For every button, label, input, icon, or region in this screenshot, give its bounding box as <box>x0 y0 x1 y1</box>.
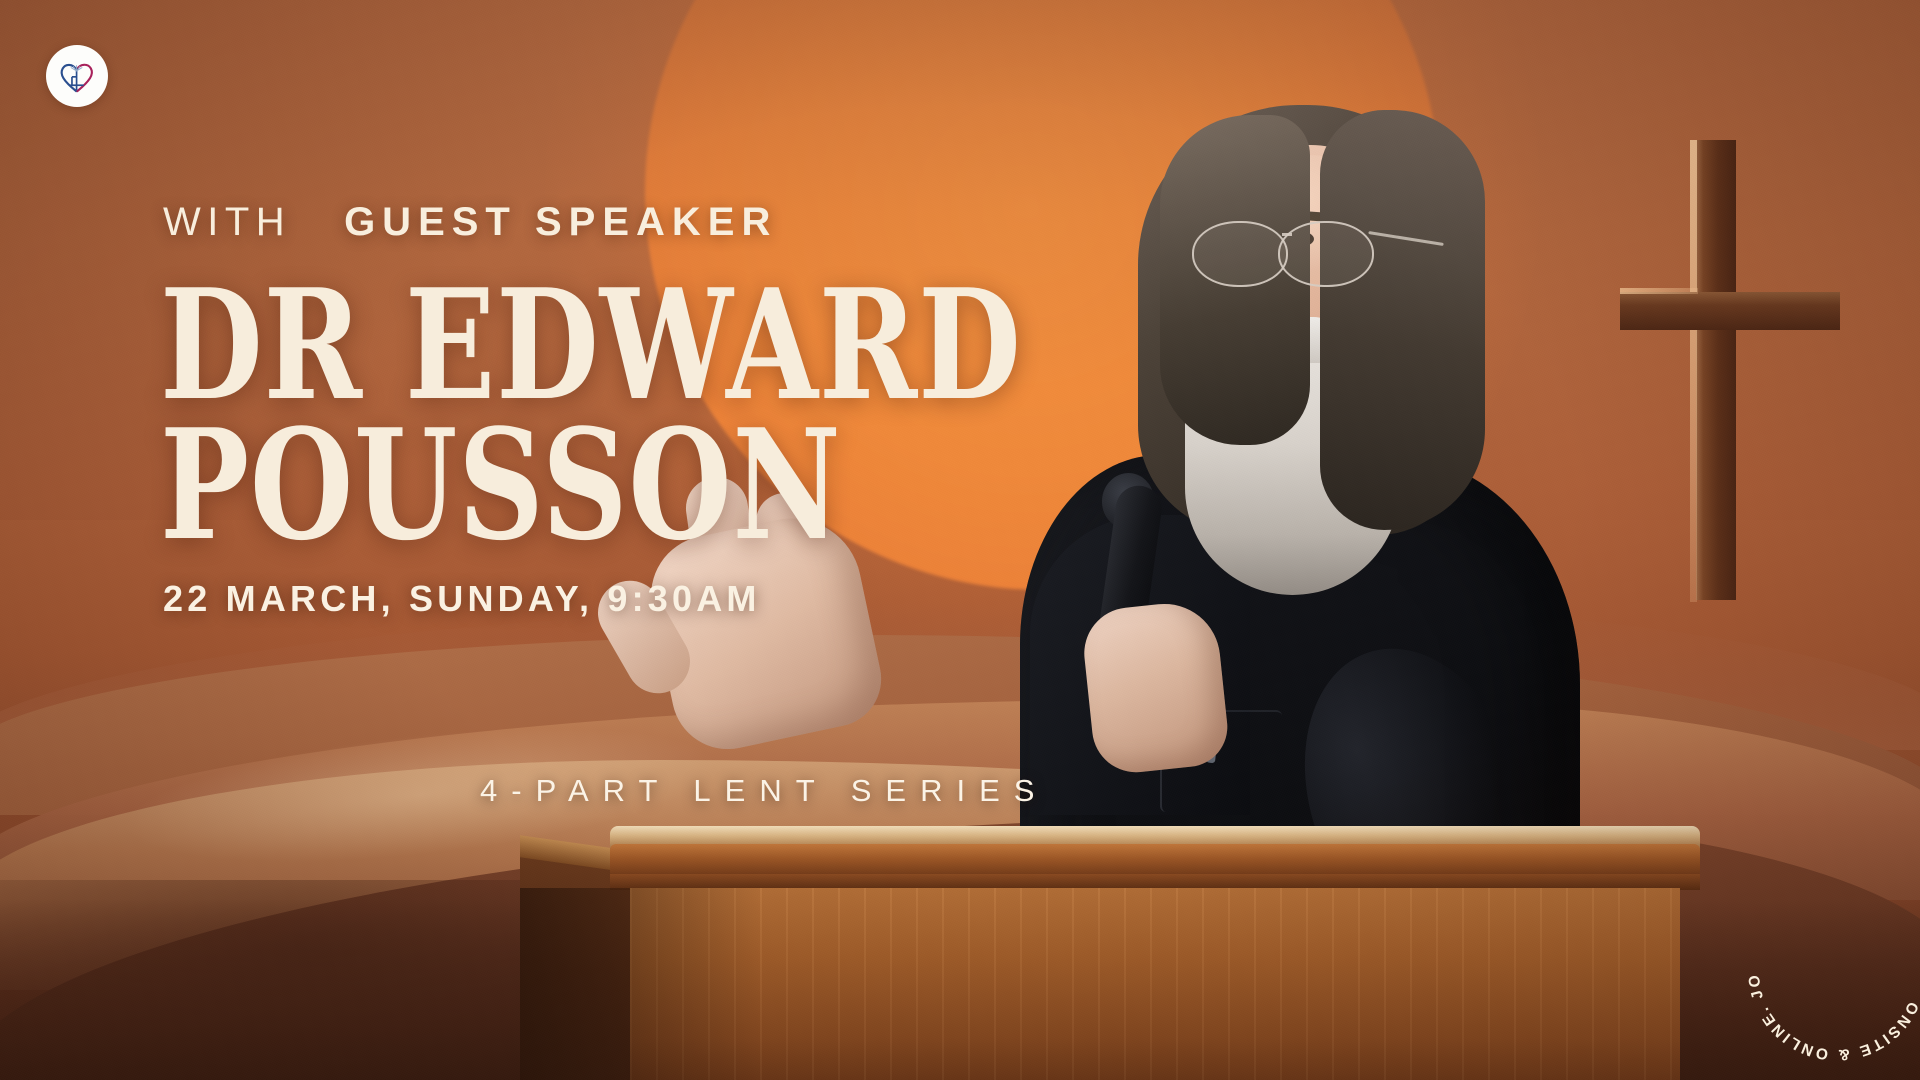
series-label: 4-PART LENT SERIES <box>480 773 1048 809</box>
circular-text-badge: ONSITE & ONLINE. JOIN US <box>1737 872 1920 1072</box>
heart-cross-logo-icon <box>56 55 98 97</box>
kicker-line: WITH GUEST SPEAKER <box>163 200 777 245</box>
kicker-bold: GUEST SPEAKER <box>344 200 777 244</box>
speaker-name-title: DR EDWARD POUSSON <box>160 275 940 555</box>
kicker-thin: WITH <box>163 200 291 244</box>
badge-text: ONSITE & ONLINE. JOIN US <box>1730 859 1920 1063</box>
speaker-name-line2: POUSSON <box>160 415 940 555</box>
badge-textpath: ONSITE & ONLINE. JOIN US <box>1730 859 1920 1063</box>
event-datetime: 22 MARCH, SUNDAY, 9:30AM <box>163 578 761 620</box>
organization-logo[interactable] <box>46 45 108 107</box>
join-us-circular-badge: ONSITE & ONLINE. JOIN US <box>1737 872 1920 1072</box>
event-poster: WITH GUEST SPEAKER DR EDWARD POUSSON 22 … <box>0 0 1920 1080</box>
